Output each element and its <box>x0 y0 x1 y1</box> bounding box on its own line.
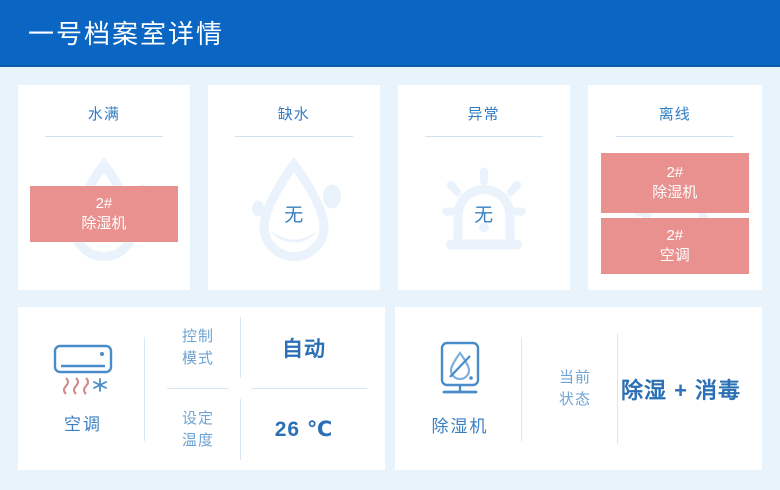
status-card-water-shortage[interactable]: 缺水 无 <box>208 85 380 290</box>
status-card-row: 水满 2# 除湿机 缺水 <box>18 85 762 290</box>
page-content: 水满 2# 除湿机 缺水 <box>0 67 780 488</box>
status-card-body: 无 <box>398 137 570 290</box>
alert-badge-device: 空调 <box>601 246 749 266</box>
detail-panel-row: 空调 控制 模式 自动 <box>18 307 762 470</box>
air-conditioner-icon <box>52 343 114 400</box>
alert-badge-device: 除湿机 <box>30 214 178 234</box>
alert-badge[interactable]: 2# 空调 <box>601 218 749 274</box>
alert-badge-id: 2# <box>30 194 178 214</box>
page-header: 一号档案室详情 <box>0 0 780 67</box>
title-divider <box>425 136 543 137</box>
status-card-water-full[interactable]: 水满 2# 除湿机 <box>18 85 190 290</box>
alert-badge[interactable]: 2# 除湿机 <box>30 186 178 242</box>
dehumidifier-icon <box>434 341 486 402</box>
property-label: 控制 模式 <box>167 326 229 370</box>
alert-badge-device: 除湿机 <box>601 183 749 203</box>
title-divider <box>235 136 353 137</box>
property-value: 自动 <box>241 333 381 363</box>
status-card-abnormal[interactable]: 异常 无 <box>398 85 570 290</box>
property-label: 设定 温度 <box>167 408 229 452</box>
property-label-line2: 温度 <box>167 430 229 452</box>
alert-badge-id: 2# <box>601 163 749 183</box>
property-row-current-status: 当前 状态 除湿 + 消毒 <box>522 307 758 470</box>
detail-panel-air-conditioner[interactable]: 空调 控制 模式 自动 <box>18 307 385 470</box>
title-divider <box>45 136 163 137</box>
status-card-body: 无 <box>208 137 380 290</box>
status-card-title: 水满 <box>88 103 120 124</box>
alert-badge-id: 2# <box>601 226 749 246</box>
status-card-title: 缺水 <box>278 103 310 124</box>
detail-panel-dehumidifier[interactable]: 除湿机 当前 状态 除湿 + 消毒 <box>395 307 762 470</box>
property-value: 除湿 + 消毒 <box>618 373 758 405</box>
title-divider <box>616 136 734 137</box>
status-empty-text: 无 <box>474 200 493 227</box>
property-row-set-temperature: 设定 温度 26 ℃ <box>145 389 381 470</box>
property-label-line1: 设定 <box>167 408 229 430</box>
status-card-offline[interactable]: 离线 2# 除湿机 2# 空调 <box>588 85 762 290</box>
property-row-control-mode: 控制 模式 自动 <box>145 307 381 388</box>
property-label-line2: 模式 <box>167 348 229 370</box>
device-summary: 空调 <box>22 343 144 435</box>
status-card-body: 2# 除湿机 2# 空调 <box>588 137 762 290</box>
device-properties: 控制 模式 自动 设定 温度 26 ℃ <box>145 307 381 470</box>
status-empty-text: 无 <box>284 200 303 227</box>
property-label-line1: 控制 <box>167 326 229 348</box>
device-summary: 除湿机 <box>399 341 521 437</box>
property-value: 26 ℃ <box>241 417 381 442</box>
device-properties: 当前 状态 除湿 + 消毒 <box>522 307 758 470</box>
page-title: 一号档案室详情 <box>28 14 224 51</box>
alert-badge[interactable]: 2# 除湿机 <box>601 153 749 213</box>
status-card-title: 异常 <box>468 103 500 124</box>
status-card-title: 离线 <box>659 103 691 124</box>
property-label: 当前 状态 <box>544 367 606 411</box>
property-label-line2: 状态 <box>544 389 606 411</box>
status-card-body: 2# 除湿机 <box>18 137 190 290</box>
device-name: 除湿机 <box>432 412 489 437</box>
device-name: 空调 <box>64 410 102 435</box>
property-label-line1: 当前 <box>544 367 606 389</box>
